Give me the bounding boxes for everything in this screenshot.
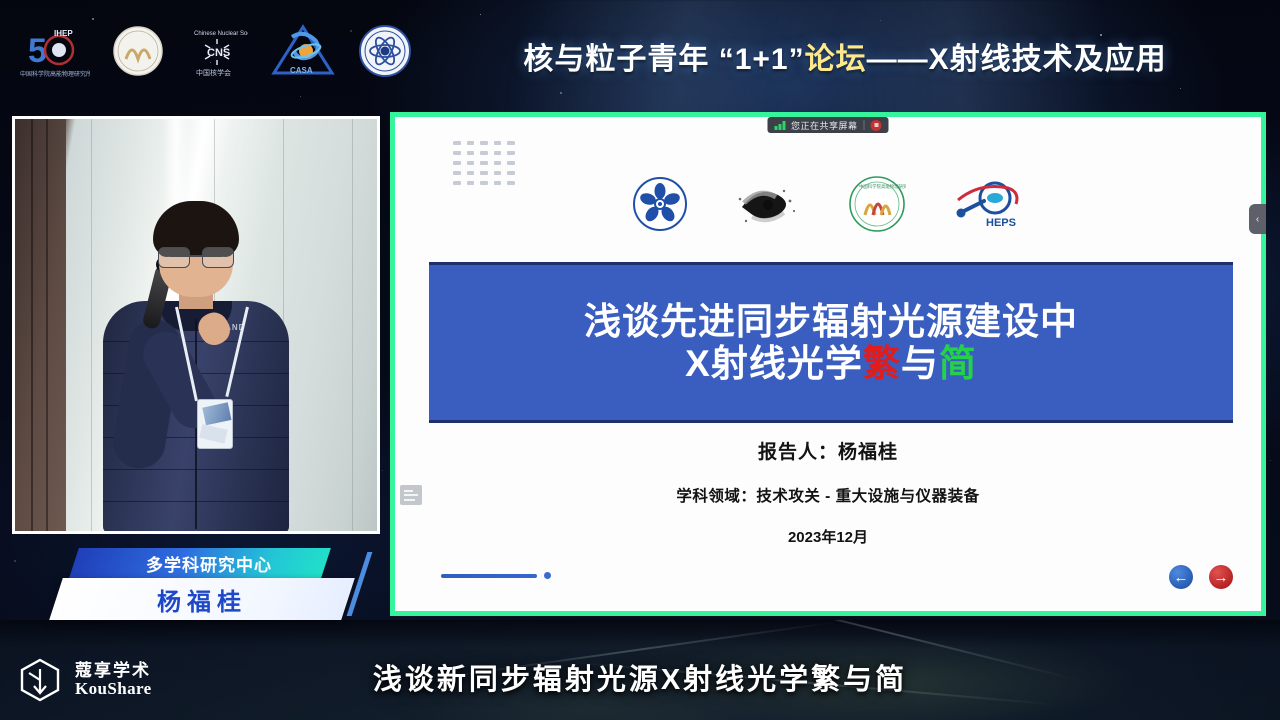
slide-title-line2-a: X射线光学 (685, 343, 863, 384)
svg-text:中国科学院高能物理研究所: 中国科学院高能物理研究所 (20, 70, 90, 78)
swirl-galaxy-logo (732, 177, 804, 231)
previous-slide-button[interactable]: ← (1169, 565, 1193, 589)
speaker-arm (110, 316, 185, 472)
ihep-blue-circular-logo (632, 176, 688, 232)
slide-date: 2023年12月 (395, 526, 1261, 547)
slide-title-line2-b: 与 (901, 343, 939, 384)
svg-text:Chinese Nuclear Society: Chinese Nuclear Society (194, 31, 248, 37)
speaker-nameplate: 多学科研究中心 杨福桂 (56, 548, 348, 620)
signal-strength-icon (774, 121, 785, 130)
event-title-highlight: 论坛 (805, 34, 867, 78)
shared-slide-content: 中国科学院高能物理研究所 HEPS 浅谈先进同步辐射光源建设中 X射线光学繁与简 (395, 117, 1261, 611)
svg-text:CASA: CASA (290, 66, 313, 75)
lanyard (175, 307, 261, 403)
slider-track (441, 574, 537, 578)
koushare-watermark: 蔻享学术 KouShare (16, 656, 152, 704)
stop-sharing-icon[interactable] (871, 120, 882, 131)
slide-list-menu-icon[interactable] (400, 485, 422, 505)
green-circular-institute-logo: 中国科学院高能物理研究所 (848, 175, 906, 233)
slide-field: 学科领域：技术攻关 - 重大设施与仪器装备 (395, 484, 1261, 506)
watermark-en-text: KouShare (75, 680, 152, 698)
ihep-50th-anniversary-logo: 5 IHEP 中国科学院高能物理研究所 (14, 22, 90, 80)
slide-title-line1: 浅谈先进同步辐射光源建设中 (584, 301, 1078, 342)
door-frame (15, 119, 66, 531)
svg-text:中国核学会: 中国核学会 (196, 68, 231, 77)
nameplate-speaker-name: 杨福桂 (56, 578, 348, 620)
svg-text:IHEP: IHEP (54, 29, 73, 38)
speaker-video-panel[interactable]: TOPBAND (12, 116, 380, 534)
heps-logo: HEPS (950, 176, 1024, 232)
slide-title-emphasis-green: 简 (939, 343, 977, 384)
star-dot (880, 20, 881, 21)
svg-text:HEPS: HEPS (986, 217, 1016, 229)
watermark-cn-text: 蔻享学术 (75, 662, 152, 680)
slide-title-line2: X射线光学繁与简 (685, 343, 977, 384)
svg-text:CNS: CNS (207, 47, 230, 59)
koushare-hexagon-icon (16, 656, 64, 704)
svg-text:中国科学院高能物理研究所: 中国科学院高能物理研究所 (859, 183, 906, 190)
star-dot (560, 92, 562, 94)
slide-metadata: 报告人：杨福桂 学科领域：技术攻关 - 重大设施与仪器装备 2023年12月 (395, 437, 1261, 547)
slider-knob[interactable] (544, 572, 551, 579)
broadcast-screen: 5 IHEP 中国科学院高能物理研究所 Chinese Nuclear Soci… (0, 0, 1280, 720)
slide-presenter: 报告人：杨福桂 (395, 437, 1261, 464)
status-bar-divider (864, 120, 865, 130)
star-dot (14, 560, 16, 562)
star-dot (382, 470, 383, 471)
star-dot (300, 96, 301, 97)
slide-title-banner: 浅谈先进同步辐射光源建设中 X射线光学繁与简 (429, 262, 1233, 423)
speaker-video-feed: TOPBAND (15, 119, 377, 531)
nameplate-affiliation: 多学科研究中心 (96, 548, 322, 578)
star-dot (1270, 460, 1271, 461)
slide-title-emphasis-red: 繁 (863, 343, 901, 384)
slide-logo-row: 中国科学院高能物理研究所 HEPS (632, 175, 1024, 233)
event-title-part2: ——X射线技术及应用 (867, 34, 1167, 78)
star-dot (480, 14, 481, 15)
casa-logo: CASA (270, 23, 336, 79)
screen-share-status-text: 您正在共享屏幕 (791, 119, 858, 132)
slide-progress-slider[interactable] (441, 572, 551, 579)
speaker-jacket: TOPBAND (103, 301, 289, 531)
id-badge (197, 399, 233, 449)
collapse-panel-chevron-icon[interactable]: ‹ (1249, 204, 1266, 234)
atom-society-logo (358, 24, 412, 78)
organizer-logo-row: 5 IHEP 中国科学院高能物理研究所 Chinese Nuclear Soci… (14, 22, 412, 80)
speaker-glasses (158, 247, 234, 267)
star-dot (92, 18, 94, 20)
next-slide-button[interactable]: → (1209, 565, 1233, 589)
speaker-figure: TOPBAND (91, 201, 301, 531)
chinese-nuclear-society-logo: Chinese Nuclear Society CNS 中国核学会 (186, 23, 248, 79)
slide-dot-grid-decoration (453, 141, 515, 185)
screen-share-status-bar[interactable]: 您正在共享屏幕 (767, 117, 888, 133)
shared-screen-region[interactable]: 中国科学院高能物理研究所 HEPS 浅谈先进同步辐射光源建设中 X射线光学繁与简 (390, 112, 1266, 616)
event-title: 核与粒子青年 “1+1” 论坛——X射线技术及应用 (430, 32, 1260, 80)
institute-emblem-logo (112, 25, 164, 77)
broadcast-caption: 浅谈新同步辐射光源X射线光学繁与简 (0, 656, 1280, 698)
event-title-part1: 核与粒子青年 “1+1” (523, 34, 804, 78)
star-dot (1180, 88, 1181, 89)
slide-navigation[interactable]: ← → (1169, 565, 1233, 589)
